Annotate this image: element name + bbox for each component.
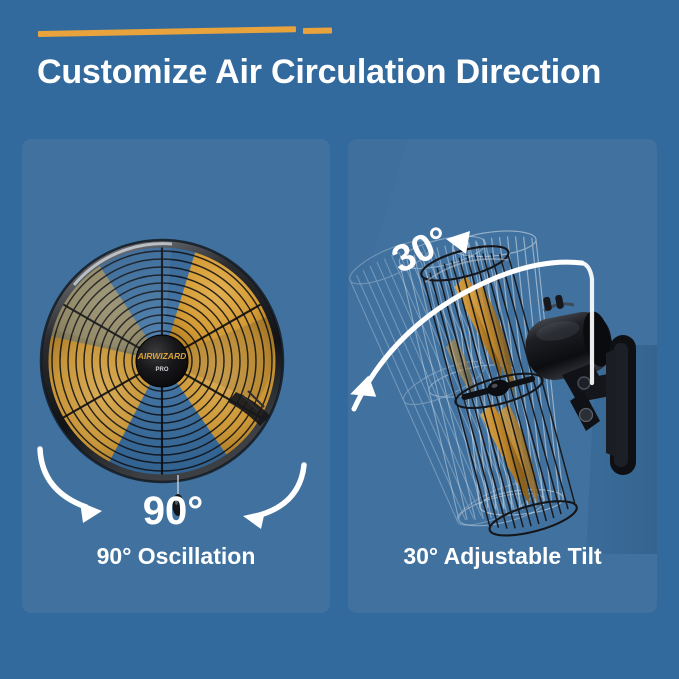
tilt-angle-label: 30° bbox=[386, 219, 456, 282]
caption-tilt: 30° Adjustable Tilt bbox=[348, 543, 657, 570]
oscillation-image: AIRWIZARD PRO bbox=[22, 139, 330, 554]
curved-arrow-right-icon bbox=[40, 449, 86, 507]
curved-arrow-left-icon bbox=[260, 465, 304, 515]
fan-main-position bbox=[418, 239, 580, 542]
oscillation-angle-label: 90° bbox=[143, 489, 204, 533]
panel-tilt: 30° 30° Adjustable Tilt bbox=[348, 139, 657, 613]
accent-rule-segment-short bbox=[303, 27, 332, 34]
page-title: Customize Air Circulation Direction bbox=[37, 53, 647, 92]
tilt-image: 30° bbox=[348, 139, 657, 554]
fan-brand-label: AIRWIZARD bbox=[137, 351, 186, 361]
accent-rule-segment-long bbox=[38, 26, 296, 37]
panel-oscillation: AIRWIZARD PRO bbox=[22, 139, 330, 613]
caption-oscillation: 90° Oscillation bbox=[22, 543, 330, 570]
infographic-root: Customize Air Circulation Direction bbox=[0, 0, 679, 679]
fan-face: AIRWIZARD PRO bbox=[41, 240, 283, 516]
fan-subbrand-label: PRO bbox=[155, 367, 168, 373]
accent-rule bbox=[38, 28, 338, 42]
